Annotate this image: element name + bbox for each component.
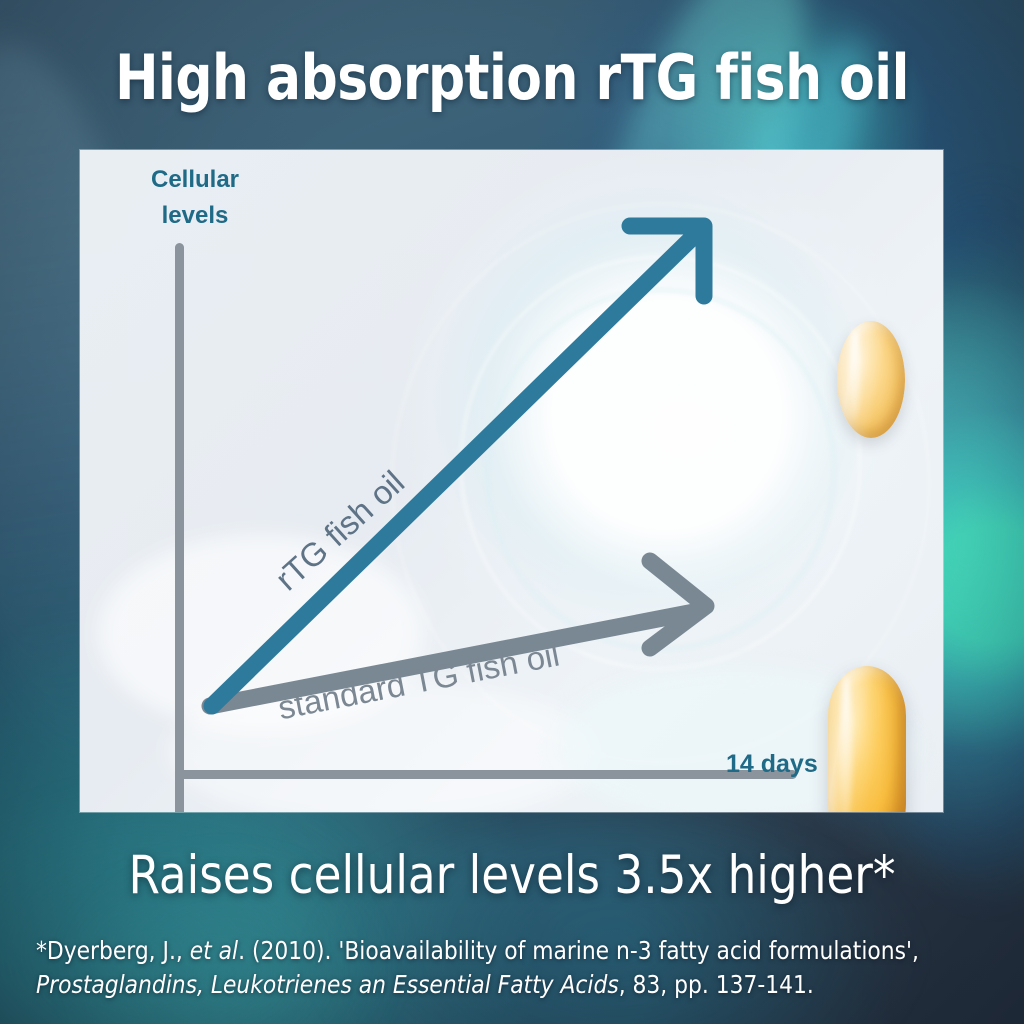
citation-line2-part2: , 83, pp. 137-141. xyxy=(619,970,814,999)
tagline: Raises cellular levels 3.5x higher* xyxy=(26,845,999,906)
citation-etal: et al xyxy=(190,936,238,965)
infographic-canvas: High absorption rTG fish oil Cellular le… xyxy=(0,0,1024,1024)
citation-line1-part2: . (2010). 'Bioavailability of marine n-3… xyxy=(238,936,919,965)
rtg-arrow xyxy=(212,226,704,706)
citation: *Dyerberg, J., et al. (2010). 'Bioavaila… xyxy=(36,934,967,1002)
small-capsule-icon xyxy=(837,321,905,438)
chart-panel: Cellular levels 14 days rTG fish oil sta… xyxy=(80,150,943,812)
citation-journal: Prostaglandins, Leukotrienes an Essentia… xyxy=(36,970,619,999)
page-title: High absorption rTG fish oil xyxy=(36,41,988,114)
large-capsule-icon xyxy=(828,666,906,812)
chart-arrows xyxy=(80,150,943,812)
citation-line1-part1: *Dyerberg, J., xyxy=(36,936,190,965)
